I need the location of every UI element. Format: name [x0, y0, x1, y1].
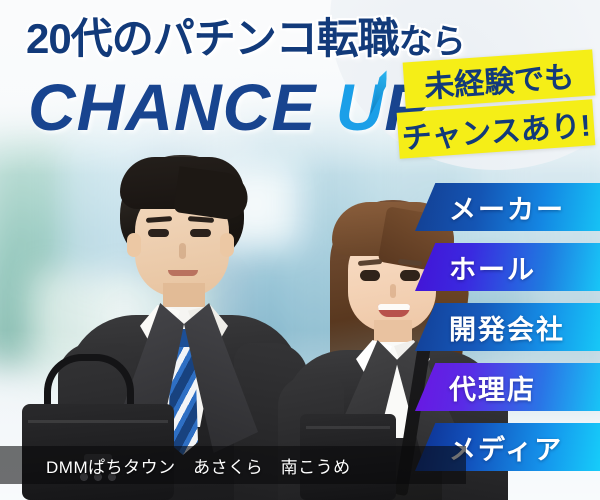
- ad-banner[interactable]: 20代のパチンコ転職なら CHANCE UP 未経験でも チャンスあり! メーカ…: [0, 0, 600, 500]
- category-label: 代理店: [449, 368, 536, 407]
- category-banner-agency[interactable]: 代理店: [415, 363, 600, 411]
- caption-bar: DMMぱちタウン あさくら 南こうめ: [0, 446, 466, 484]
- headline: 20代のパチンコ転職なら: [26, 18, 465, 60]
- category-label: ホール: [449, 248, 536, 287]
- badge-label: 未経験でも: [423, 52, 576, 106]
- chance-up-logo: CHANCE UP: [28, 74, 429, 140]
- category-banner-development-company[interactable]: 開発会社: [415, 303, 600, 351]
- headline-main: 20代のパチンコ転職: [26, 15, 399, 62]
- category-banner-hall[interactable]: ホール: [415, 243, 600, 291]
- headline-suffix: なら: [399, 23, 465, 61]
- category-label: メディア: [449, 428, 563, 467]
- logo-u-text: U: [336, 70, 385, 144]
- category-banner-maker[interactable]: メーカー: [415, 183, 600, 231]
- logo-letter-u: U: [336, 74, 385, 140]
- caption-text: DMMぱちタウン あさくら 南こうめ: [46, 453, 351, 478]
- category-label: メーカー: [449, 188, 565, 227]
- logo-prefix: CHANCE: [28, 70, 336, 144]
- category-label: 開発会社: [449, 308, 565, 347]
